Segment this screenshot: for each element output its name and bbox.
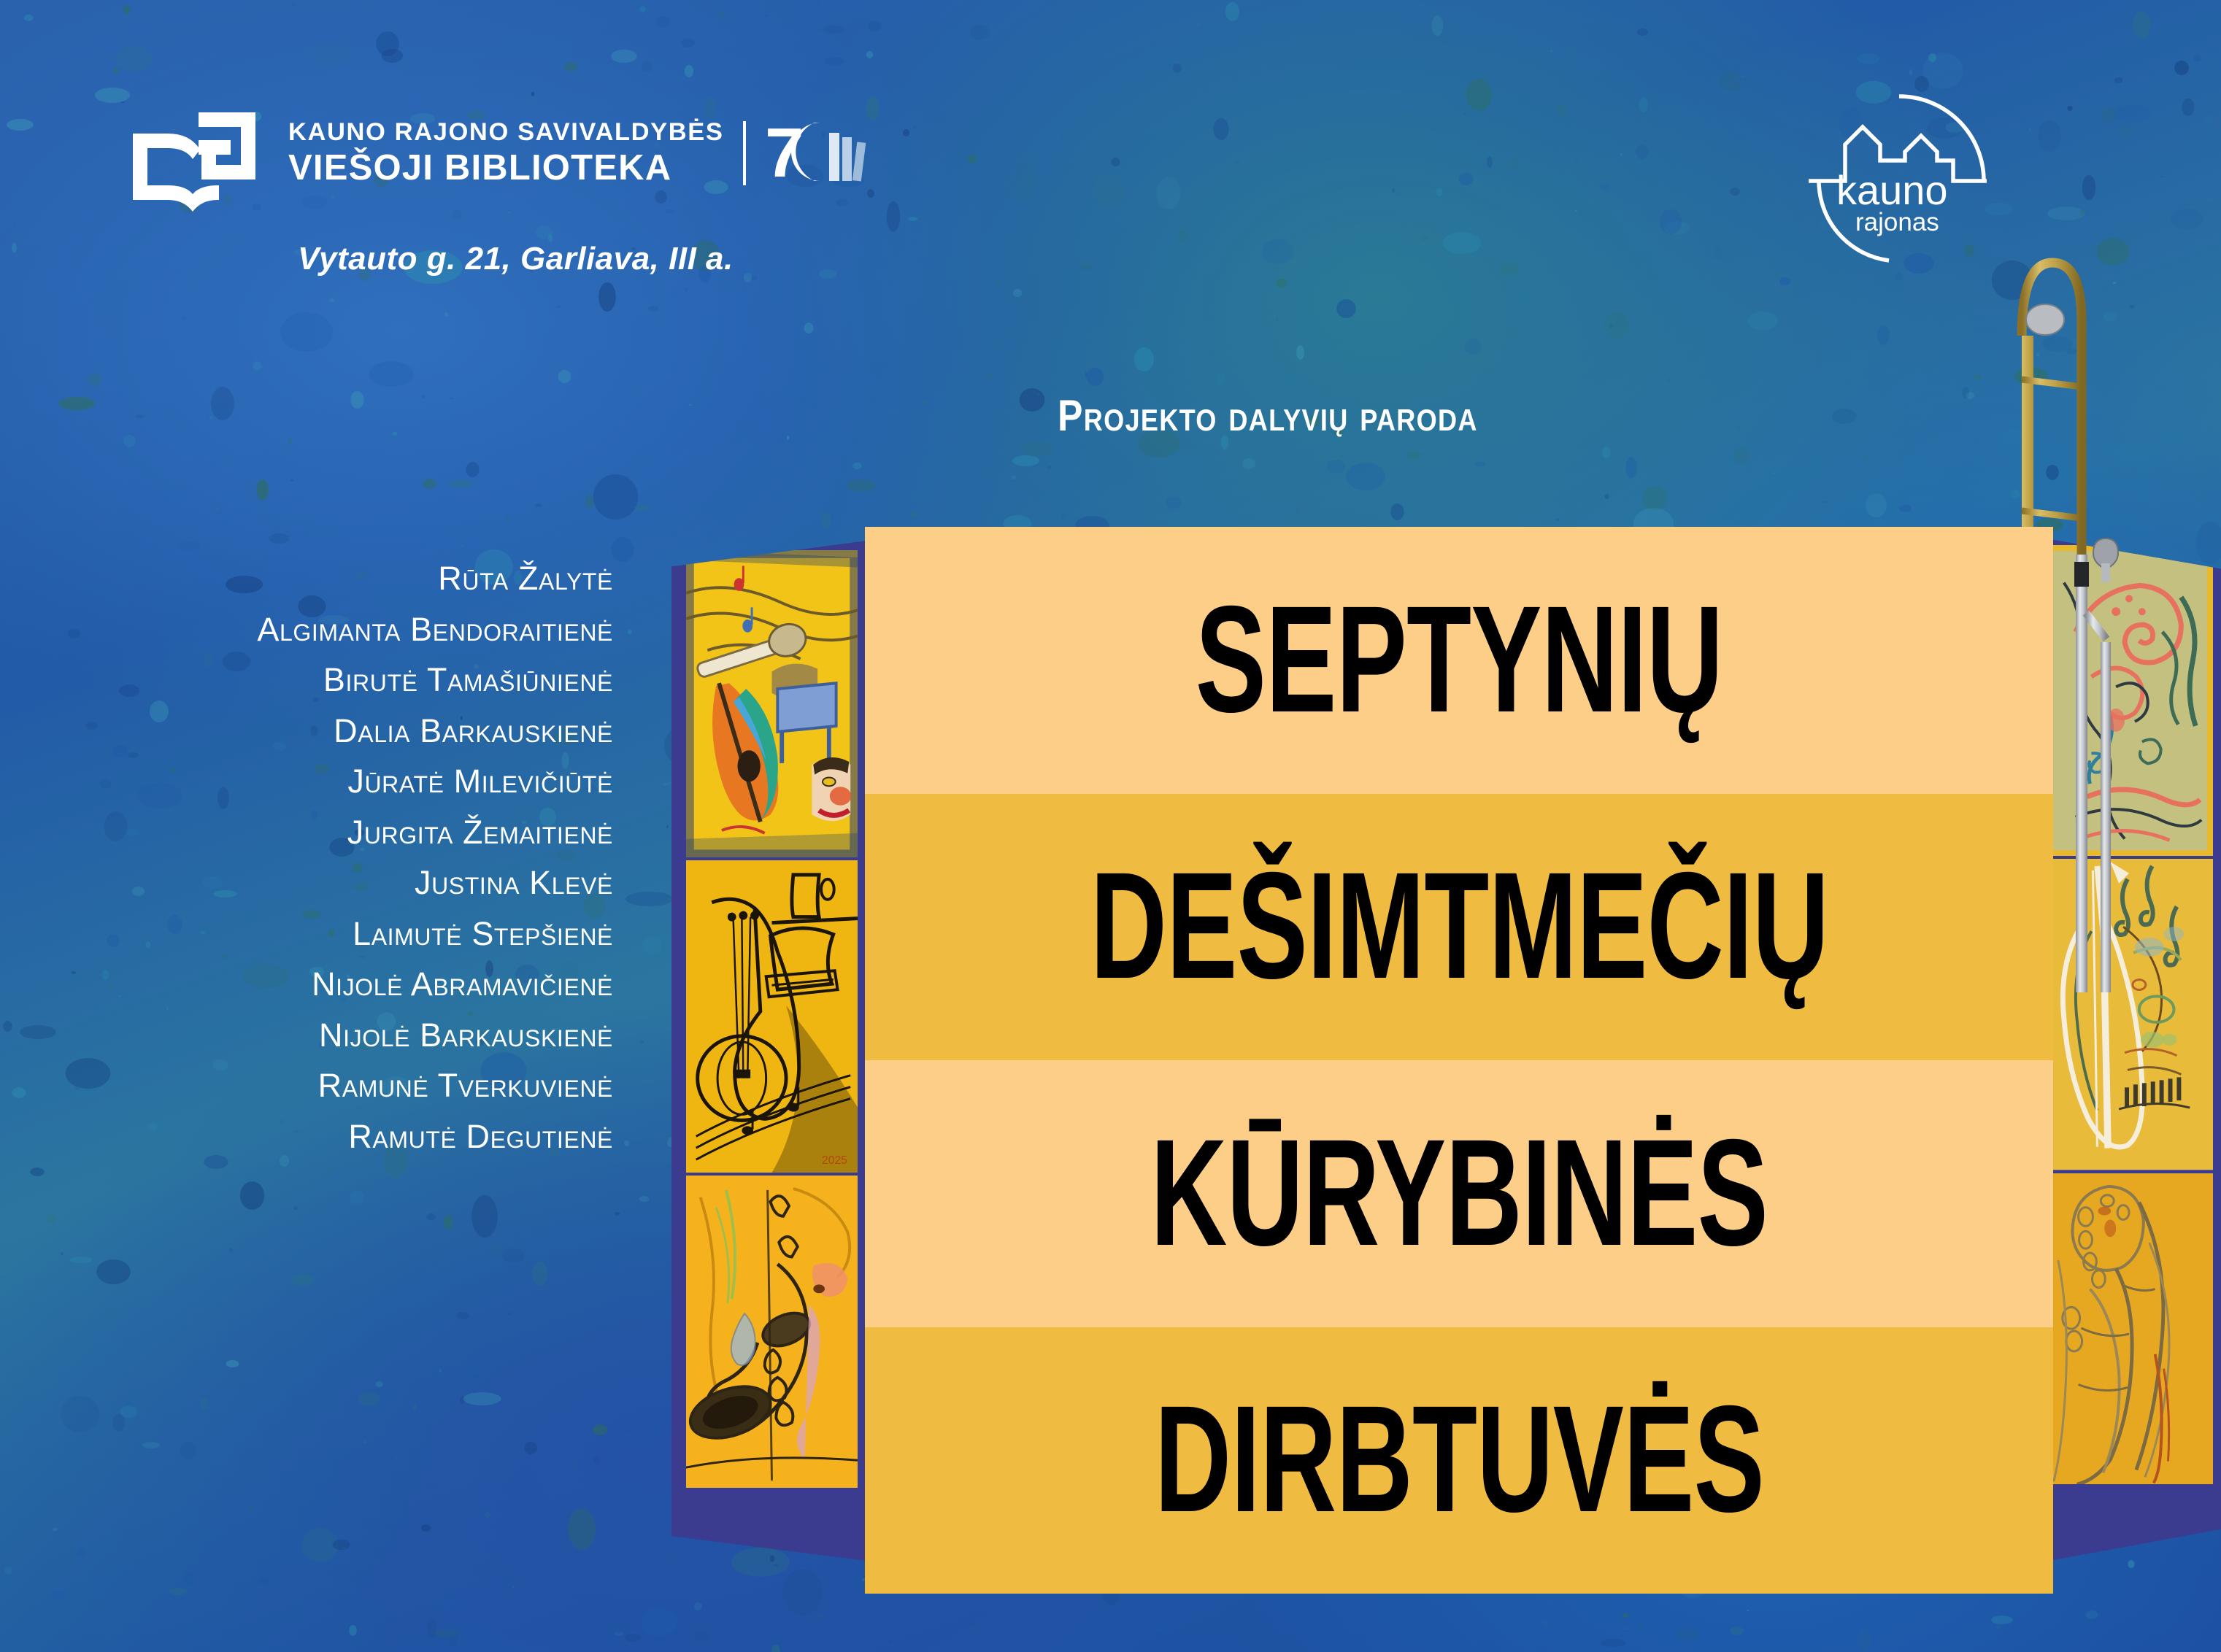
participants-list: Rūta Žalytė Algimanta Bendoraitienė Biru… [131,562,613,1170]
kauno-rajonas-logo: kauno rajonas [1803,88,2000,281]
list-item: Nijolė Abramavičienė [131,968,613,1000]
address-text: Vytauto g. 21, Garliava, III a. [298,241,734,277]
list-item: Ramunė Tverkuvienė [131,1069,613,1102]
list-item: Laimutė Stepšienė [131,917,613,950]
logo-word-rajonas: rajonas [1855,208,1939,236]
logo-divider [743,121,746,185]
anniversary-70-icon: 7 [765,118,874,185]
svg-text:7: 7 [765,118,804,185]
list-item: Jūratė Milevičiūtė [131,765,613,798]
list-item: Algimanta Bendoraitienė [131,613,613,646]
list-item: Jurgita Žemaitienė [131,816,613,849]
title-line-4: DIRBTUVĖS [1154,1388,1763,1532]
title-line-3: KŪRYBINĖS [1150,1122,1768,1266]
list-item: Birutė Tamašiūnienė [131,663,613,696]
svg-text:2025: 2025 [822,1154,847,1167]
list-item: Nijolė Barkauskienė [131,1019,613,1051]
artwork-panel-banjo-charcoal: 2025 [686,860,858,1173]
title-line-1: SEPTYNIŲ [1196,588,1723,733]
list-item: Dalia Barkauskienė [131,714,613,747]
artwork-panel-cello-piano-face [686,550,858,857]
list-item: Rūta Žalytė [131,562,613,595]
title-band-4: DIRBTUVĖS [865,1327,2053,1594]
library-name-line1: KAUNO RAJONO SAVIVALDYBĖS [288,120,724,145]
exhibition-title-panel: SEPTYNIŲ DEŠIMTMEČIŲ KŪRYBINĖS DIRBTUVĖS [865,527,2053,1594]
artwork-panel-abstract-figure [2047,1173,2213,1484]
artwork-wing-left: 2025 [671,540,872,1562]
list-item: Ramutė Degutienė [131,1120,613,1153]
artwork-panel-saxophone [686,1176,858,1488]
open-book-icon [130,109,258,215]
title-band-3: KŪRYBINĖS [865,1060,2053,1327]
library-name-line2: VIEŠOJI BIBLIOTEKA [288,150,724,186]
library-logo: KAUNO RAJONO SAVIVALDYBĖS VIEŠOJI BIBLIO… [130,109,874,215]
list-item: Justina Klevė [131,866,613,899]
title-line-2: DEŠIMTMEČIŲ [1090,854,1828,999]
logo-word-kauno: kauno [1836,167,1948,213]
title-band-2: DEŠIMTMEČIŲ [865,794,2053,1061]
title-band-1: SEPTYNIŲ [865,527,2053,794]
exhibition-kicker: Projekto dalyvių paroda [1058,390,1478,441]
